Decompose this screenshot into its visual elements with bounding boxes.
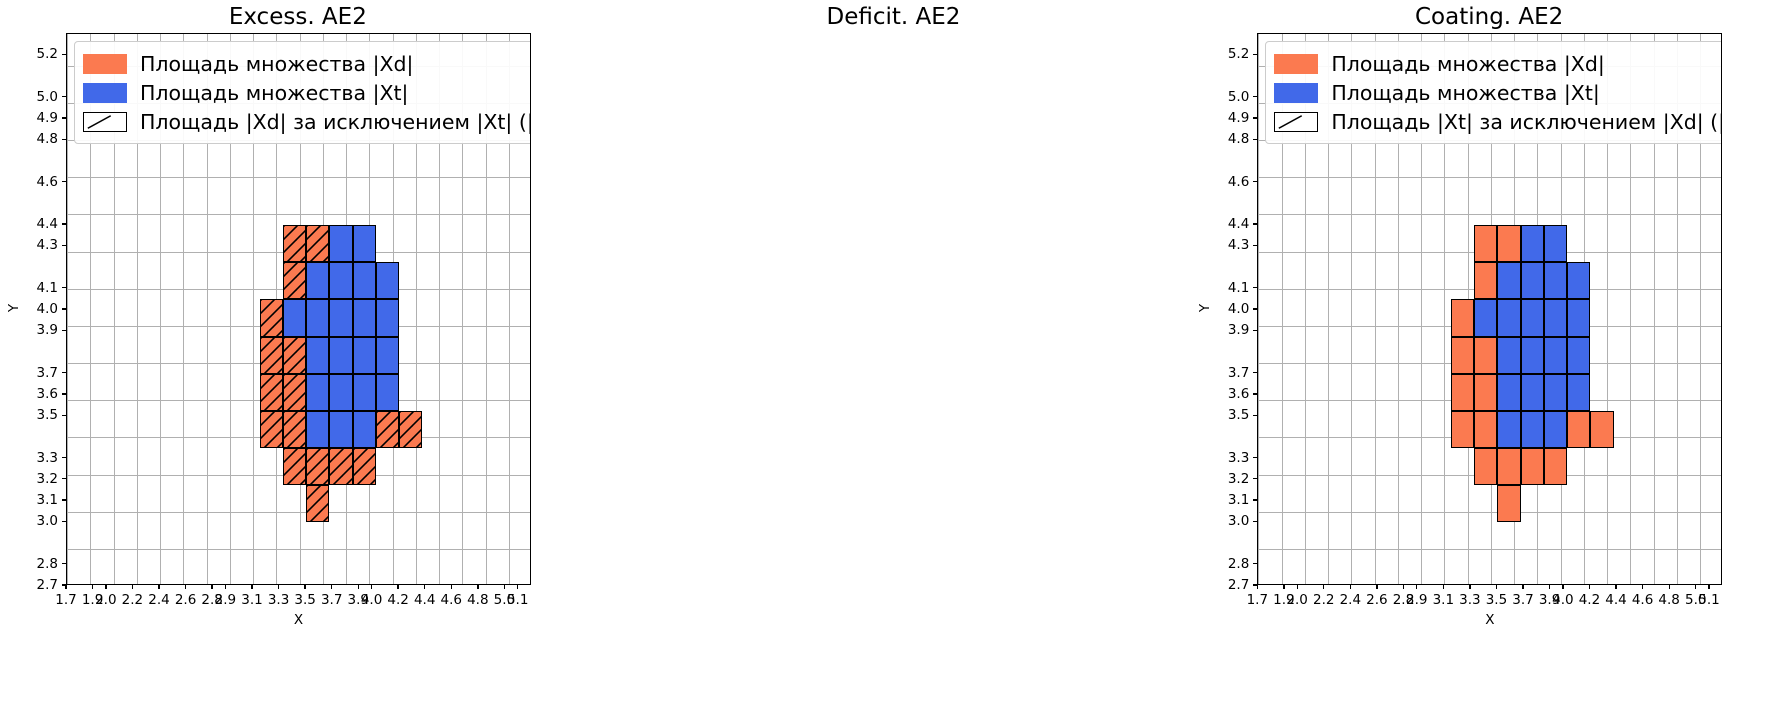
y-tick-label: 4.4 (18, 216, 58, 232)
y-tick-mark (62, 139, 66, 140)
x-tick-mark (132, 585, 133, 589)
panel-title-excess: Excess. AE2 (0, 4, 596, 30)
panel-title-deficit: Deficit. AE2 (596, 4, 1192, 30)
y-tick-mark (62, 96, 66, 97)
figure-canvas: Excess. AE22.72.83.03.13.23.33.53.63.73.… (0, 0, 1787, 709)
x-tick-mark (92, 585, 93, 589)
x-tick-mark (65, 585, 66, 589)
y-tick-label: 3.2 (18, 471, 58, 487)
y-tick-mark (62, 54, 66, 55)
legend-excess: Площадь множества |Xd|Площадь множества … (74, 41, 530, 144)
x-tick-mark (424, 585, 425, 589)
y-tick-label: 2.7 (18, 577, 58, 593)
x-tick-mark (371, 585, 372, 589)
legend-label: Площадь |Xd| за исключением |Xt| (|Xd\Xt… (140, 110, 530, 134)
y-tick-mark (62, 415, 66, 416)
y-tick-mark (62, 223, 66, 224)
y-tick-label: 3.5 (18, 407, 58, 423)
y-tick-label: 3.3 (18, 450, 58, 466)
y-tick-mark (62, 245, 66, 246)
legend-label: Площадь множества |Xt| (140, 81, 408, 105)
x-tick-mark (304, 585, 305, 589)
x-tick-mark (251, 585, 252, 589)
y-tick-mark (62, 117, 66, 118)
x-tick-mark (105, 585, 106, 589)
x-tick-mark (477, 585, 478, 589)
panel-coating: Coating. AE22.72.83.03.13.23.33.53.63.73… (1191, 0, 1787, 709)
x-tick-mark (225, 585, 226, 589)
x-tick-mark (517, 585, 518, 589)
y-tick-mark (62, 457, 66, 458)
y-tick-mark (62, 308, 66, 309)
y-tick-mark (62, 393, 66, 394)
x-tick-mark (158, 585, 159, 589)
y-tick-mark (62, 563, 66, 564)
x-tick-mark (331, 585, 332, 589)
x-tick-mark (278, 585, 279, 589)
y-tick-label: 4.9 (18, 110, 58, 126)
y-tick-label: 2.8 (18, 556, 58, 572)
legend-row: Площадь |Xd| за исключением |Xt| (|Xd\Xt… (83, 107, 530, 136)
x-tick-label: 5.1 (500, 592, 536, 608)
x-tick-mark (185, 585, 186, 589)
y-tick-label: 3.6 (18, 386, 58, 402)
panel-title-coating: Coating. AE2 (1191, 4, 1787, 30)
y-tick-label: 4.8 (18, 131, 58, 147)
legend-row: Площадь множества |Xt| (83, 78, 530, 107)
y-tick-mark (62, 521, 66, 522)
y-tick-mark (62, 287, 66, 288)
y-tick-mark (62, 478, 66, 479)
y-tick-label: 5.2 (18, 46, 58, 62)
panel-deficit: Deficit. AE22.72.83.03.13.23.33.53.63.73… (596, 0, 1192, 709)
x-tick-mark (397, 585, 398, 589)
y-tick-label: 4.1 (18, 280, 58, 296)
y-tick-mark (62, 330, 66, 331)
y-tick-label: 4.3 (18, 237, 58, 253)
x-tick-mark (504, 585, 505, 589)
y-tick-label: 4.0 (18, 301, 58, 317)
legend-clip-excess: Площадь множества |Xd|Площадь множества … (67, 34, 530, 584)
y-tick-mark (62, 499, 66, 500)
legend-row: Площадь множества |Xd| (83, 49, 530, 78)
legend-label: Площадь множества |Xd| (140, 52, 413, 76)
y-tick-label: 3.1 (18, 492, 58, 508)
y-tick-label: 3.7 (18, 365, 58, 381)
x-tick-mark (211, 585, 212, 589)
legend-key-hatched (83, 112, 127, 132)
y-tick-label: 4.6 (18, 174, 58, 190)
y-tick-label: 3.0 (18, 513, 58, 529)
y-tick-label: 3.9 (18, 322, 58, 338)
panel-excess: Excess. AE22.72.83.03.13.23.33.53.63.73.… (0, 0, 596, 709)
legend-key-xd (83, 54, 127, 74)
legend-key-xt (83, 83, 127, 103)
y-tick-mark (62, 181, 66, 182)
y-tick-label: 5.0 (18, 89, 58, 105)
y-axis-label: Y (6, 298, 22, 318)
x-axis-label: X (66, 612, 531, 628)
x-tick-mark (451, 585, 452, 589)
x-tick-mark (358, 585, 359, 589)
y-tick-mark (62, 372, 66, 373)
